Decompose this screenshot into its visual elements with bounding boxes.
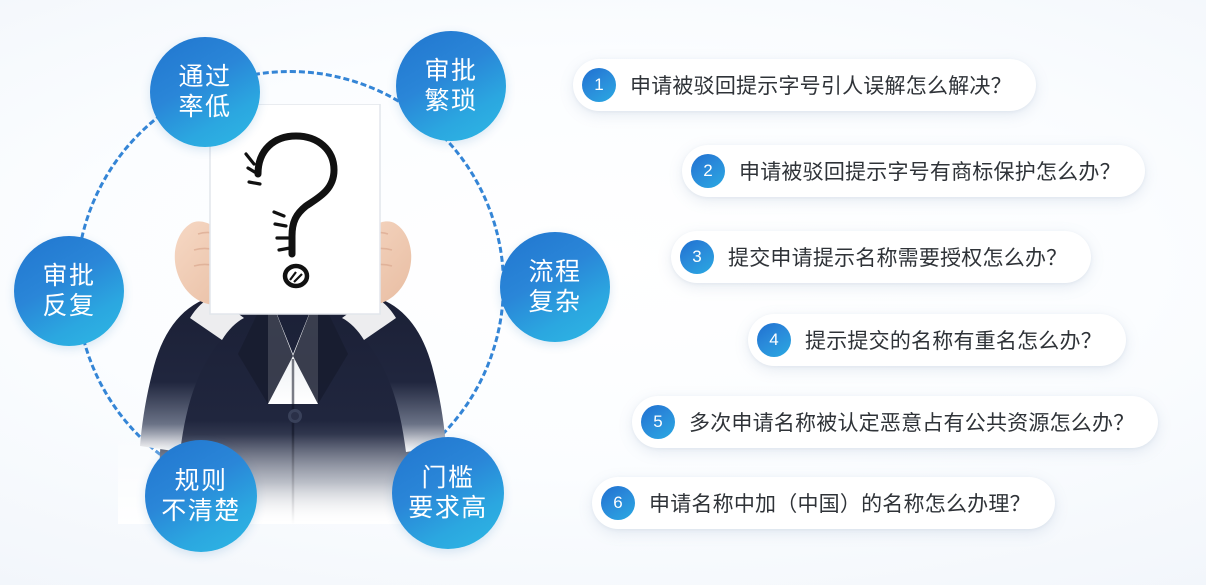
question-item-3[interactable]: 3 提交申请提示名称需要授权怎么办？ (671, 231, 1091, 283)
question-item-1[interactable]: 1 申请被驳回提示字号引人误解怎么解决？ (573, 59, 1036, 111)
question-number-badge: 2 (691, 154, 725, 188)
question-text: 申请被驳回提示字号有商标保护怎么办？ (739, 156, 1121, 186)
question-text: 提示提交的名称有重名怎么办？ (805, 325, 1102, 355)
question-number-badge: 3 (680, 240, 714, 274)
question-list: 1 申请被驳回提示字号引人误解怎么解决？ 2 申请被驳回提示字号有商标保护怎么办… (0, 0, 1206, 585)
question-number-badge: 1 (582, 68, 616, 102)
question-item-4[interactable]: 4 提示提交的名称有重名怎么办？ (748, 314, 1126, 366)
question-number-badge: 4 (757, 323, 791, 357)
question-text: 申请名称中加（中国）的名称怎么办理？ (649, 488, 1031, 518)
question-text: 申请被驳回提示字号引人误解怎么解决？ (630, 70, 1012, 100)
question-number-badge: 5 (641, 405, 675, 439)
question-item-5[interactable]: 5 多次申请名称被认定恶意占有公共资源怎么办？ (632, 396, 1158, 448)
infographic-canvas: 通过 率低 审批 繁琐 审批 反复 流程 复杂 规则 不清楚 门槛 要求高 1 … (0, 0, 1206, 585)
question-item-2[interactable]: 2 申请被驳回提示字号有商标保护怎么办？ (682, 145, 1145, 197)
question-text: 多次申请名称被认定恶意占有公共资源怎么办？ (689, 407, 1134, 437)
question-number-badge: 6 (601, 486, 635, 520)
question-item-6[interactable]: 6 申请名称中加（中国）的名称怎么办理？ (592, 477, 1055, 529)
question-text: 提交申请提示名称需要授权怎么办？ (728, 242, 1067, 272)
